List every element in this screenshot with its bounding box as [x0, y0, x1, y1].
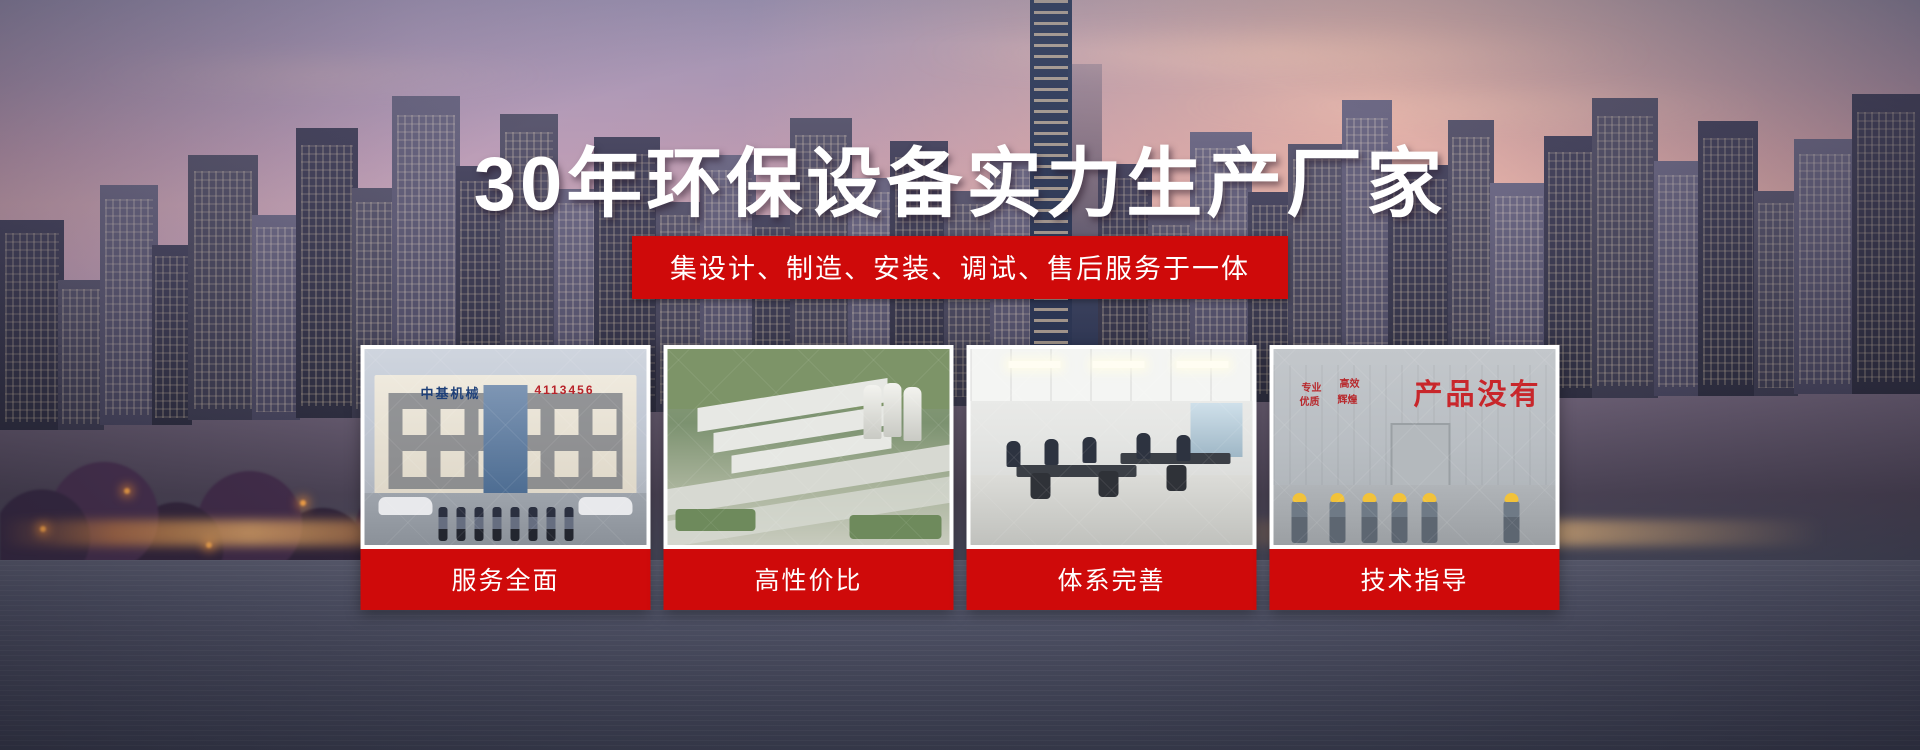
feature-card-caption: 服务全面: [361, 549, 651, 610]
feature-card-caption: 高性价比: [664, 549, 954, 610]
feature-card-caption: 技术指导: [1270, 549, 1560, 610]
feature-card-caption: 体系完善: [967, 549, 1257, 610]
factory-wall-headline-text: 产品没有: [1413, 371, 1541, 413]
office-interior-staff-workstations-photo: [971, 349, 1253, 545]
banner-headline: 30年环保设备实力生产厂家: [0, 122, 1920, 232]
factory-wall-slogan-text: 专业: [1302, 379, 1322, 394]
feature-card[interactable]: 高性价比: [664, 345, 954, 610]
banner-subtitle-badge: 集设计、制造、安装、调试、售后服务于一体: [632, 236, 1288, 299]
feature-card[interactable]: 中基机械 4113456 服务全面: [361, 345, 651, 610]
building-sign-phone-text: 4113456: [534, 383, 594, 397]
feature-card[interactable]: 产品没有 专业 高效 优质 辉煌 技术指导: [1270, 345, 1560, 610]
feature-card-list: 中基机械 4113456 服务全面: [361, 345, 1560, 610]
aerial-view-production-plant-photo: [668, 349, 950, 545]
factory-workshop-workers-photo: 产品没有 专业 高效 优质 辉煌: [1274, 349, 1556, 545]
factory-wall-slogan-text: 辉煌: [1338, 391, 1358, 406]
building-sign-logo-text: 中基机械: [421, 383, 481, 402]
company-headquarters-building-photo: 中基机械 4113456: [365, 349, 647, 545]
hero-banner: 30年环保设备实力生产厂家 集设计、制造、安装、调试、售后服务于一体 中基机械 …: [0, 0, 1920, 750]
factory-wall-slogan-text: 优质: [1300, 393, 1320, 408]
feature-card[interactable]: 体系完善: [967, 345, 1257, 610]
factory-wall-slogan-text: 高效: [1340, 375, 1360, 390]
